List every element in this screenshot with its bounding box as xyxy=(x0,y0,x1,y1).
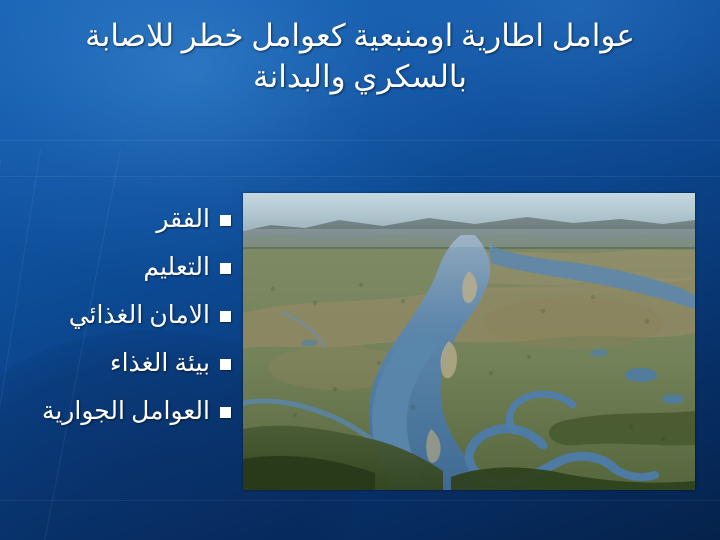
bullet-list: الفقر التعليم الامان الغذائي بيئة الغذاء… xyxy=(8,196,233,436)
bullet-label: الفقر xyxy=(8,206,210,234)
list-item: التعليم xyxy=(8,244,233,292)
square-bullet-icon xyxy=(220,311,231,322)
aerial-river-landscape-photo xyxy=(243,193,695,490)
square-bullet-icon xyxy=(220,263,231,274)
list-item: بيئة الغذاء xyxy=(8,340,233,388)
square-bullet-icon xyxy=(220,359,231,370)
background-hairline-1 xyxy=(0,140,720,141)
presentation-slide: عوامل اطارية اومنبعية كعوامل خطر للاصابة… xyxy=(0,0,720,540)
background-hairline-3 xyxy=(0,500,720,501)
list-item: العوامل الجوارية xyxy=(8,388,233,436)
background-hairline-2 xyxy=(0,176,720,177)
square-bullet-icon xyxy=(220,407,231,418)
slide-title: عوامل اطارية اومنبعية كعوامل خطر للاصابة… xyxy=(36,16,684,98)
square-bullet-icon xyxy=(220,215,231,226)
bullet-label: العوامل الجوارية xyxy=(8,398,210,426)
bullet-label: الامان الغذائي xyxy=(8,302,210,330)
list-item: الفقر xyxy=(8,196,233,244)
list-item: الامان الغذائي xyxy=(8,292,233,340)
bullet-label: بيئة الغذاء xyxy=(8,350,210,378)
background-diagonal-3 xyxy=(0,160,1,540)
bullet-label: التعليم xyxy=(8,254,210,282)
